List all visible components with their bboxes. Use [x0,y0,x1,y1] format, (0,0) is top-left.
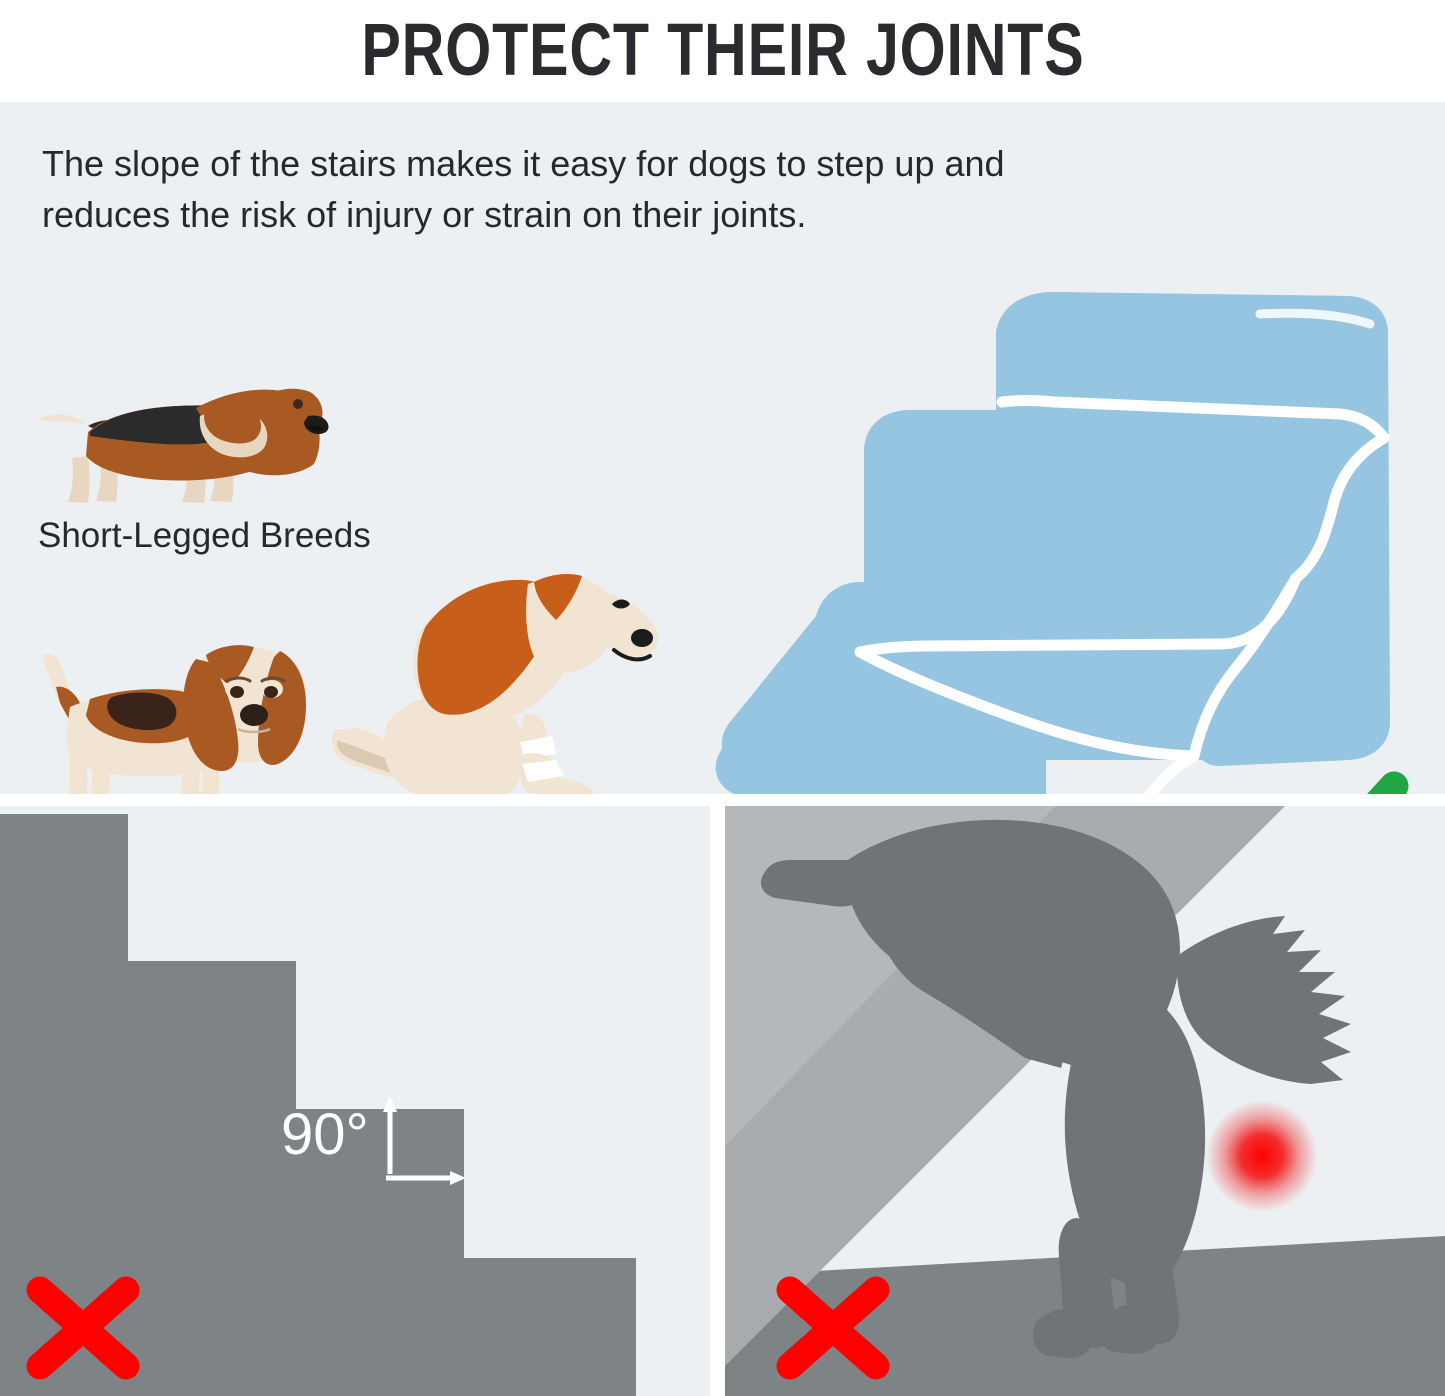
angle-label-90-degrees: 90° [281,1106,369,1164]
red-x-icon-left [22,1272,144,1384]
page-title: PROTECT THEIR JOINTS [361,13,1084,87]
basset-hound-side-illustration [28,360,358,510]
caption-short-legged-breeds: Short-Legged Breeds [38,516,371,556]
title-bar: PROTECT THEIR JOINTS [0,0,1445,100]
senior-basset-hound-illustration [28,637,328,794]
red-x-icon-right [772,1272,894,1384]
injured-dog-bandaged-leg-illustration [328,554,688,794]
infographic-page: PROTECT THEIR JOINTS The slope of the st… [0,0,1445,1396]
intro-text: The slope of the stairs makes it easy fo… [42,138,1062,240]
blue-pet-stairs-illustration [700,252,1420,794]
top-panel: The slope of the stairs makes it easy fo… [0,102,1445,794]
green-check-icon [1252,766,1412,794]
